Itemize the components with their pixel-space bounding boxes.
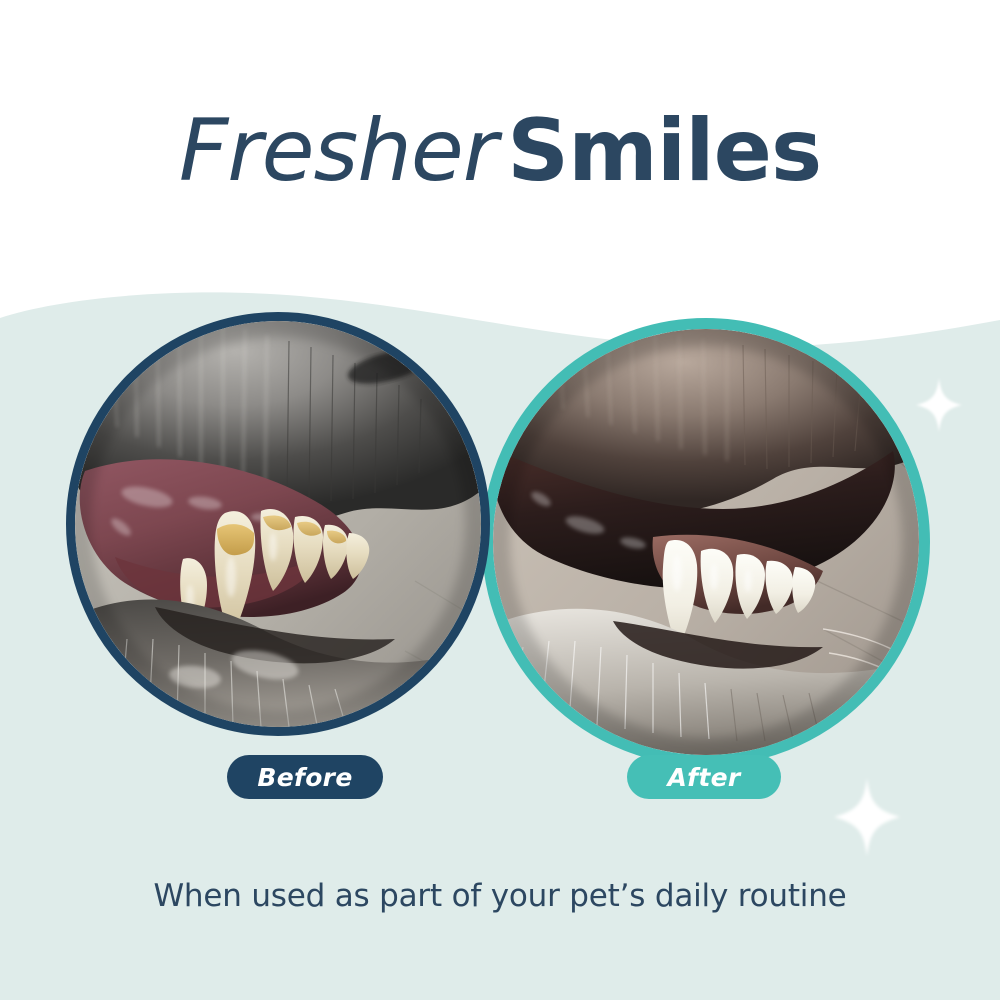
sparkle-icon bbox=[830, 776, 904, 858]
before-label-text: Before bbox=[257, 763, 352, 792]
after-label-text: After bbox=[668, 763, 741, 792]
page-title-italic-word: Fresher bbox=[179, 101, 497, 201]
caption-text: When used as part of your pet’s daily ro… bbox=[0, 878, 1000, 914]
page-title-bold-word: Smiles bbox=[507, 101, 821, 201]
promo-canvas: FresherSmiles bbox=[0, 0, 1000, 1000]
sparkle-icon bbox=[912, 376, 966, 434]
after-photo bbox=[493, 329, 919, 755]
before-photo-circle[interactable] bbox=[66, 312, 490, 736]
before-photo bbox=[75, 321, 481, 727]
after-label-pill: After bbox=[627, 755, 781, 799]
page-title: FresherSmiles bbox=[0, 108, 1000, 194]
after-photo-circle[interactable] bbox=[482, 318, 930, 766]
before-label-pill: Before bbox=[227, 755, 383, 799]
